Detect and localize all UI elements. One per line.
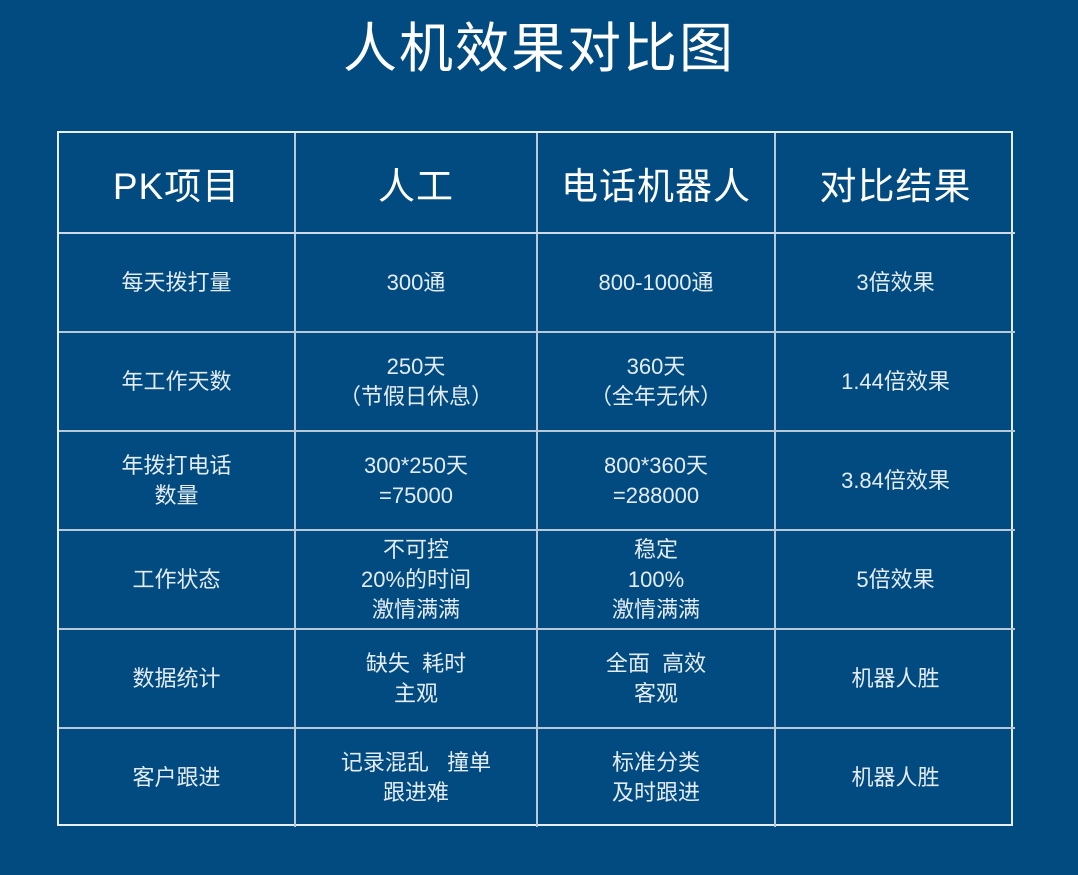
cell-human: 不可控20%的时间激情满满 [295, 530, 537, 629]
cell-robot: 800*360天=288000 [537, 431, 775, 530]
cell-line: 不可控 [302, 535, 530, 565]
column-header-robot: 电话机器人 [537, 133, 775, 233]
cell-line: 记录混乱 撞单 [302, 748, 530, 778]
cell-line: 客观 [544, 679, 768, 709]
cell-line: 20%的时间 [302, 565, 530, 595]
cell-item: 数据统计 [59, 629, 295, 728]
cell-line: 800*360天 [544, 451, 768, 481]
cell-result: 3.84倍效果 [775, 431, 1015, 530]
cell-line: 5倍效果 [782, 565, 1009, 595]
table-header-row: PK项目 人工 电话机器人 对比结果 [59, 133, 1015, 233]
cell-line: 工作状态 [65, 565, 288, 595]
cell-line: 及时跟进 [544, 778, 768, 808]
column-header-result: 对比结果 [775, 133, 1015, 233]
cell-item: 年工作天数 [59, 332, 295, 431]
cell-line: =75000 [302, 481, 530, 511]
cell-line: 数量 [65, 481, 288, 511]
cell-human: 300*250天=75000 [295, 431, 537, 530]
comparison-table-container: PK项目 人工 电话机器人 对比结果 每天拨打量300通800-1000通3倍效… [57, 131, 1013, 826]
cell-line: 300*250天 [302, 451, 530, 481]
slide-canvas: 人机效果对比图 PK项目 人工 电话机器人 对比结果 每天拨打量300通800-… [0, 0, 1078, 875]
cell-line: （全年无休） [544, 382, 768, 412]
cell-item: 年拨打电话数量 [59, 431, 295, 530]
cell-line: 缺失 耗时 [302, 649, 530, 679]
cell-line: 100% [544, 565, 768, 595]
cell-line: 1.44倍效果 [782, 367, 1009, 397]
cell-line: 3.84倍效果 [782, 466, 1009, 496]
cell-line: 机器人胜 [782, 664, 1009, 694]
cell-line: 3倍效果 [782, 268, 1009, 298]
cell-line: 激情满满 [302, 595, 530, 625]
cell-human: 缺失 耗时主观 [295, 629, 537, 728]
cell-robot: 标准分类及时跟进 [537, 728, 775, 827]
cell-line: 跟进难 [302, 778, 530, 808]
table-row: 客户跟进记录混乱 撞单跟进难标准分类及时跟进机器人胜 [59, 728, 1015, 827]
cell-line: 300通 [302, 268, 530, 298]
cell-line: 800-1000通 [544, 268, 768, 298]
cell-line: 250天 [302, 352, 530, 382]
cell-item: 每天拨打量 [59, 233, 295, 332]
cell-line: 机器人胜 [782, 763, 1009, 793]
table-row: 年拨打电话数量300*250天=75000800*360天=2880003.84… [59, 431, 1015, 530]
cell-robot: 全面 高效客观 [537, 629, 775, 728]
cell-human: 300通 [295, 233, 537, 332]
table-row: 数据统计缺失 耗时主观全面 高效客观机器人胜 [59, 629, 1015, 728]
cell-robot: 360天（全年无休） [537, 332, 775, 431]
cell-line: 全面 高效 [544, 649, 768, 679]
cell-line: 标准分类 [544, 748, 768, 778]
cell-line: 稳定 [544, 535, 768, 565]
column-header-item: PK项目 [59, 133, 295, 233]
cell-line: 主观 [302, 679, 530, 709]
page-title: 人机效果对比图 [0, 14, 1078, 84]
cell-robot: 800-1000通 [537, 233, 775, 332]
table-row: 工作状态不可控20%的时间激情满满稳定100%激情满满5倍效果 [59, 530, 1015, 629]
cell-line: 年拨打电话 [65, 451, 288, 481]
cell-result: 1.44倍效果 [775, 332, 1015, 431]
comparison-table: PK项目 人工 电话机器人 对比结果 每天拨打量300通800-1000通3倍效… [59, 133, 1015, 827]
cell-line: 360天 [544, 352, 768, 382]
table-body: 每天拨打量300通800-1000通3倍效果年工作天数250天（节假日休息）36… [59, 233, 1015, 827]
cell-result: 5倍效果 [775, 530, 1015, 629]
cell-item: 工作状态 [59, 530, 295, 629]
cell-result: 机器人胜 [775, 728, 1015, 827]
cell-line: 激情满满 [544, 595, 768, 625]
table-row: 每天拨打量300通800-1000通3倍效果 [59, 233, 1015, 332]
cell-result: 机器人胜 [775, 629, 1015, 728]
cell-line: =288000 [544, 481, 768, 511]
table-header: PK项目 人工 电话机器人 对比结果 [59, 133, 1015, 233]
cell-item: 客户跟进 [59, 728, 295, 827]
cell-human: 记录混乱 撞单跟进难 [295, 728, 537, 827]
cell-line: 数据统计 [65, 664, 288, 694]
cell-human: 250天（节假日休息） [295, 332, 537, 431]
cell-line: 客户跟进 [65, 763, 288, 793]
cell-robot: 稳定100%激情满满 [537, 530, 775, 629]
column-header-human: 人工 [295, 133, 537, 233]
cell-line: 年工作天数 [65, 367, 288, 397]
cell-line: （节假日休息） [302, 382, 530, 412]
cell-result: 3倍效果 [775, 233, 1015, 332]
cell-line: 每天拨打量 [65, 268, 288, 298]
table-row: 年工作天数250天（节假日休息）360天（全年无休）1.44倍效果 [59, 332, 1015, 431]
